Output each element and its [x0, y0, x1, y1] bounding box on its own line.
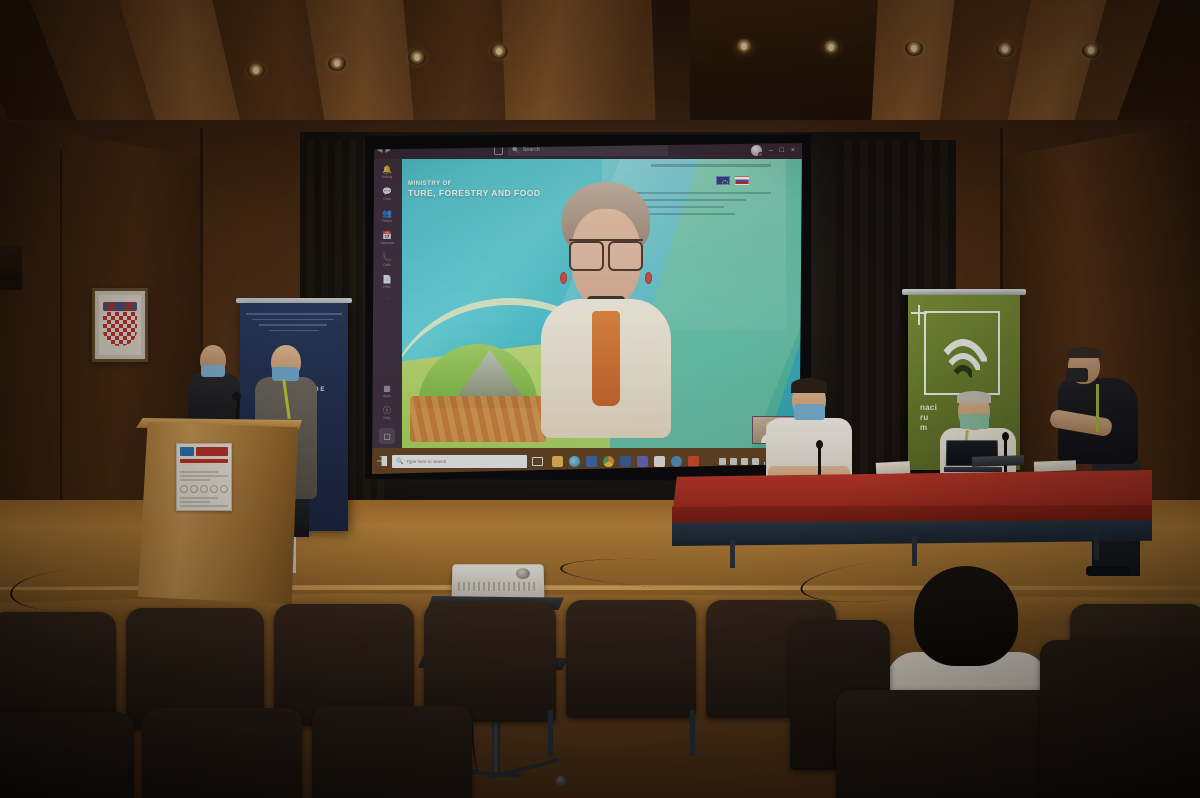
face-mask	[960, 414, 989, 429]
search-icon: 🔍	[396, 458, 403, 465]
teams-video-stage: MINISTRY OF TURE, FORESTRY AND FOOD PODE…	[402, 159, 802, 448]
rural-network-logo	[924, 311, 1000, 395]
croatian-coat-of-arms	[92, 288, 148, 362]
ceiling-downlight	[905, 41, 923, 56]
user-avatar[interactable]	[751, 145, 762, 156]
rural-network-banner-text: naci ru m	[920, 403, 937, 433]
sidebar-item-label: Apps	[383, 394, 391, 398]
sidebar-item-calendar[interactable]: 📅 Calendar	[380, 231, 394, 245]
ceiling	[0, 0, 1200, 132]
sidebar-item-label: Calendar	[380, 241, 394, 245]
sidebar-item-activity[interactable]: 🔔 Activity	[382, 165, 393, 179]
flag-row	[716, 176, 749, 185]
teams-sidebar: 🔔 Activity 💬 Chat 👥 Teams 📅 Calendar 📞	[372, 159, 402, 448]
sidebar-item-apps[interactable]: ▦ Apps	[383, 384, 391, 398]
projection-screen: ◀ ▶ 🔍 Search – □ ×	[372, 141, 802, 474]
sidebar-item-chat[interactable]: 💬 Chat	[382, 187, 392, 201]
sidebar-item-label: Teams	[382, 219, 392, 223]
ceiling-downlight	[996, 42, 1014, 57]
audience-chair[interactable]	[312, 706, 472, 798]
audience-chair[interactable]	[142, 708, 302, 798]
close-button[interactable]: ×	[791, 147, 795, 154]
video-background-title-prefix: MINISTRY OF	[408, 181, 541, 187]
earring-right	[645, 272, 652, 284]
audience-chair[interactable]	[836, 690, 1066, 798]
ceiling-downlight	[328, 56, 346, 71]
ceiling-downlight	[490, 44, 508, 59]
sidebar-item-files[interactable]: 📄 Files	[382, 275, 392, 289]
outlook-icon[interactable]	[586, 456, 597, 467]
banner-line-1: naci	[920, 403, 937, 413]
network-icon[interactable]	[719, 458, 726, 465]
sidebar-item-more[interactable]: ⋯	[385, 297, 388, 301]
task-view-icon[interactable]	[532, 457, 543, 466]
volume-icon[interactable]	[730, 458, 737, 465]
sidebar-item-help[interactable]: ⓘ Help	[383, 406, 391, 420]
help-icon: ⓘ	[383, 406, 391, 415]
store-icon[interactable]: ▢	[379, 428, 395, 444]
poster-title	[180, 465, 228, 469]
teams-search-placeholder: Search	[523, 147, 540, 153]
word-icon[interactable]	[620, 456, 631, 467]
teams-icon: 👥	[382, 209, 392, 218]
face-mask	[794, 404, 825, 420]
ceiling-downlight	[247, 63, 265, 78]
search-icon: 🔍	[512, 147, 519, 154]
ceiling-downlight	[1082, 43, 1100, 58]
face-mask	[201, 365, 225, 377]
sidebar-item-label: Help	[384, 416, 391, 420]
explorer-window-icon[interactable]	[654, 456, 665, 467]
audience-chair[interactable]	[0, 712, 134, 798]
earring-left	[560, 272, 567, 284]
notebook[interactable]	[972, 455, 1024, 467]
powerpoint-icon[interactable]	[688, 456, 699, 467]
remote-participant-video	[538, 182, 674, 431]
chrome-icon[interactable]	[603, 456, 614, 467]
slovenia-flag-icon	[735, 176, 749, 185]
ceiling-downlight	[822, 40, 840, 55]
papers[interactable]	[876, 461, 911, 475]
face-mask	[1066, 368, 1088, 382]
sidebar-item-label: ⋯	[385, 297, 388, 301]
sidebar-item-label: Activity	[382, 175, 393, 179]
taskbar-search-input[interactable]: 🔍 Type here to search	[392, 455, 527, 468]
onedrive-icon[interactable]	[741, 458, 748, 465]
face-mask	[272, 367, 299, 381]
sidebar-item-label: Chat	[383, 197, 390, 201]
taskbar-search-placeholder: Type here to search	[406, 459, 446, 464]
apps-icon: ▦	[383, 384, 391, 393]
auditorium-scene: ◀ ▶ 🔍 Search – □ ×	[0, 0, 1200, 798]
sidebar-item-calls[interactable]: 📞 Calls	[382, 253, 392, 267]
eyeglasses	[569, 239, 642, 266]
eu-flag-icon	[716, 176, 730, 185]
audience-chair[interactable]	[1040, 640, 1200, 798]
projector	[452, 564, 545, 600]
wall-speaker	[0, 246, 22, 290]
windows-start-icon[interactable]	[377, 456, 387, 466]
document-heading-1: PODEZELJA	[664, 159, 717, 161]
projector-lens	[516, 568, 530, 579]
minimize-button[interactable]: –	[769, 147, 773, 154]
bell-icon: 🔔	[382, 165, 392, 174]
sidebar-item-label: Files	[383, 285, 390, 289]
video-background-title: MINISTRY OF TURE, FORESTRY AND FOOD	[408, 181, 541, 198]
document-heading-2: PROGRAMI	[727, 159, 775, 161]
papers[interactable]	[1034, 460, 1076, 471]
files-icon: 📄	[382, 275, 392, 284]
taskbar-apps	[552, 456, 699, 467]
file-explorer-icon[interactable]	[552, 456, 563, 467]
sidebar-item-label: Calls	[383, 263, 391, 267]
ceiling-downlight	[408, 50, 426, 65]
video-background-title-main: TURE, FORESTRY AND FOOD	[408, 188, 541, 198]
ceiling-downlight	[735, 39, 753, 54]
edge-icon[interactable]	[569, 456, 580, 467]
maximize-button[interactable]: □	[780, 147, 784, 154]
audience-chair[interactable]	[424, 602, 556, 722]
battery-icon[interactable]	[752, 458, 759, 465]
sidebar-item-teams[interactable]: 👥 Teams	[382, 209, 392, 223]
cart-caster	[556, 776, 566, 786]
settings-icon[interactable]	[671, 456, 682, 467]
status-badge	[758, 152, 763, 157]
audience-chair[interactable]	[566, 600, 696, 718]
calendar-icon: 📅	[382, 231, 392, 240]
chat-icon: 💬	[382, 187, 392, 196]
teams-icon[interactable]	[637, 456, 648, 467]
banner-line-2: ru	[920, 413, 937, 423]
phone-icon: 📞	[382, 253, 392, 262]
teams-application-window[interactable]: ◀ ▶ 🔍 Search – □ ×	[372, 141, 802, 474]
banner-line-3: m	[920, 423, 937, 433]
covid-information-poster	[176, 443, 232, 511]
